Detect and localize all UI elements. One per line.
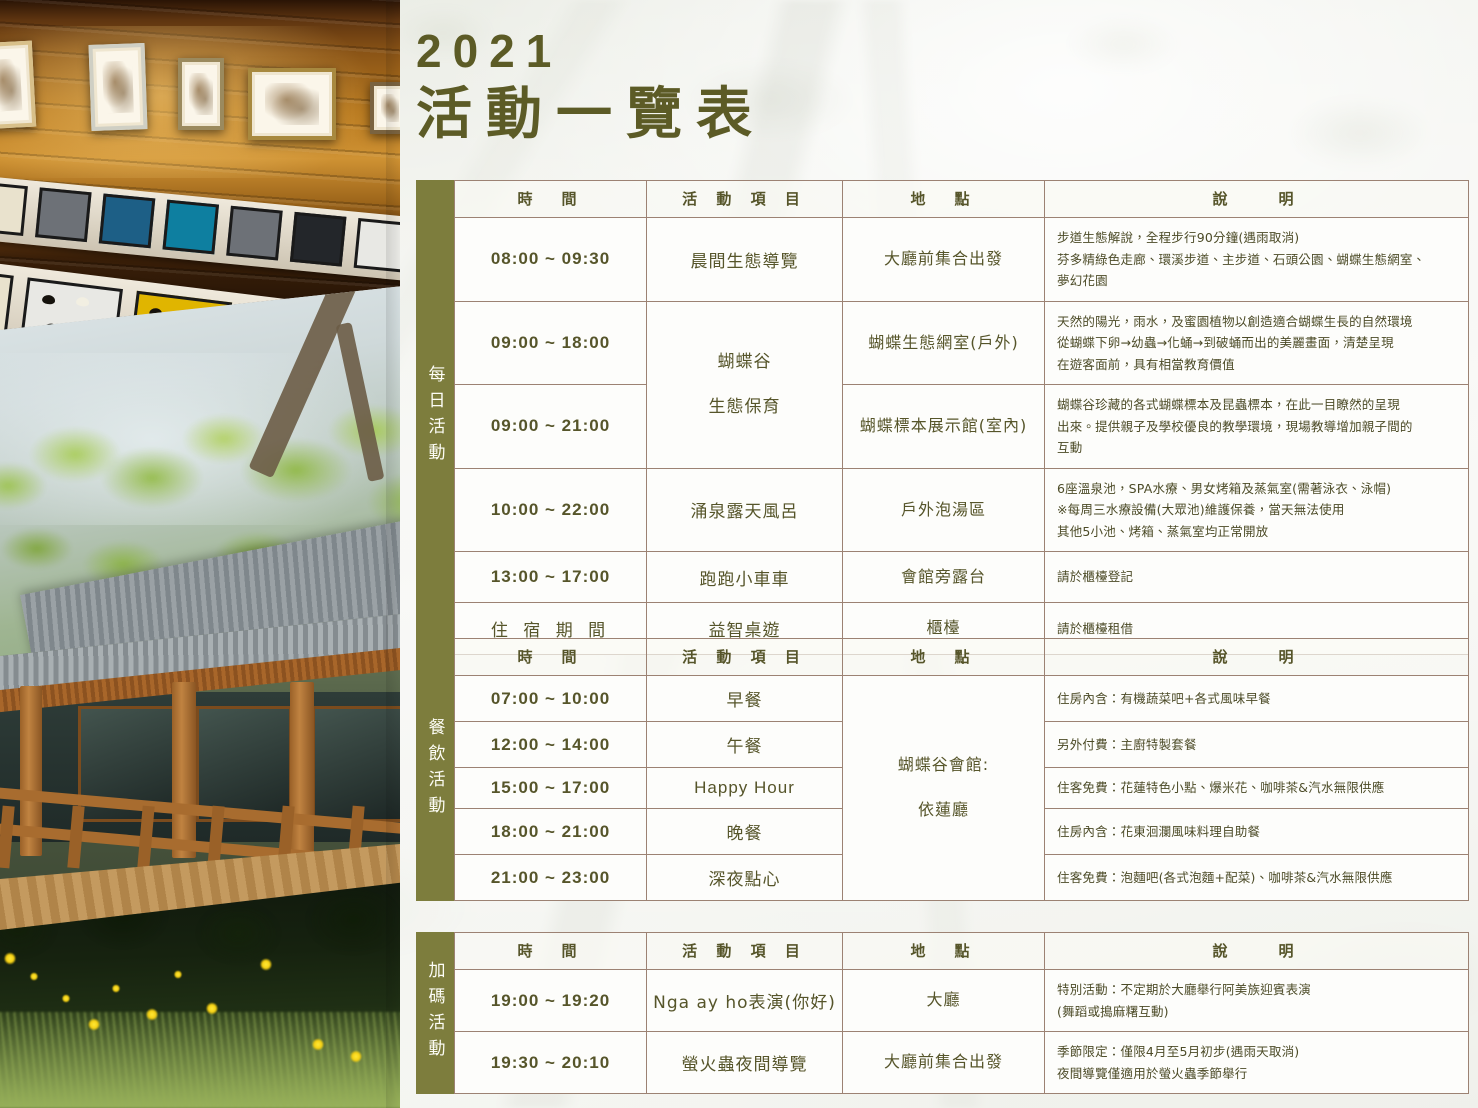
page-title: 2021 活動一覽表 (416, 28, 766, 147)
cell-item-merged: 蝴蝶谷 生態保育 (647, 301, 843, 468)
cell-desc: 6座溫泉池，SPA水療、男女烤箱及蒸氣室(需著泳衣、泳帽) ※每周三水療設備(大… (1045, 468, 1469, 552)
desc-line: 互動 (1057, 437, 1456, 459)
column-header-time: 時 間 (455, 639, 647, 676)
schedule-table-daily: 時 間 活 動 項 目 地 點 說 明 08:00 ~ 09:30 晨間生態導覽… (454, 180, 1469, 655)
desc-line: 在遊客面前，具有相當教育價值 (1057, 354, 1456, 376)
desc-line: 6座溫泉池，SPA水療、男女烤箱及蒸氣室(需著泳衣、泳帽) (1057, 478, 1456, 500)
desc-line: 特別活動：不定期於大廳舉行阿美族迎賓表演 (1057, 979, 1456, 1001)
desc-line: (舞蹈或搗麻糬互動) (1057, 1001, 1456, 1023)
table-header-row: 時 間 活 動 項 目 地 點 說 明 (455, 639, 1469, 676)
cell-place: 戶外泡湯區 (843, 468, 1045, 552)
cell-place: 大廳 (843, 970, 1045, 1032)
photo-butterfly-specimen-museum (0, 0, 400, 330)
firefly-glow (30, 972, 38, 981)
side-label-daily: 每日活動 (416, 180, 454, 655)
collage-edge-shadow (386, 0, 400, 1108)
table-row: 09:00 ~ 18:00 蝴蝶谷 生態保育 蝴蝶生態網室(戶外) 天然的陽光，… (455, 301, 1469, 385)
cell-desc: 住客免費：泡麵吧(各式泡麵+配菜)、咖啡茶&汽水無限供應 (1045, 855, 1469, 901)
side-label-bonus: 加碼活動 (416, 932, 454, 1094)
cell-time: 21:00 ~ 23:00 (455, 855, 647, 901)
cell-place: 會館旁露台 (843, 552, 1045, 603)
column-header-place: 地 點 (843, 933, 1045, 970)
cell-desc: 季節限定：僅限4月至5月初步(遇雨天取消) 夜間導覽僅適用於螢火蟲季節舉行 (1045, 1032, 1469, 1094)
desc-line: 住房內含：有機蔬菜吧+各式風味早餐 (1057, 688, 1456, 710)
desc-line: 出來。提供親子及學校優良的教學環境，現場教導增加親子間的 (1057, 416, 1456, 438)
desc-line: 住客免費：泡麵吧(各式泡麵+配菜)、咖啡茶&汽水無限供應 (1057, 867, 1456, 889)
side-label-dining: 餐飲活動 (416, 638, 454, 901)
cell-item: 跑跑小車車 (647, 552, 843, 603)
title-main: 活動一覽表 (416, 84, 766, 147)
cell-place: 蝴蝶標本展示館(室內) (843, 385, 1045, 469)
cell-desc: 另外付費：主廚特製套餐 (1045, 722, 1469, 768)
desc-line: 住客免費：花蓮特色小點、爆米花、咖啡茶&汽水無限供應 (1057, 777, 1456, 799)
desc-line: 夜間導覽僅適用於螢火蟲季節舉行 (1057, 1063, 1456, 1085)
desc-line: 住房內含：花東洄瀾風味料理自助餐 (1057, 821, 1456, 843)
content-panel: 2021 活動一覽表 每日活動 時 間 活 動 項 目 地 點 說 明 08:0… (400, 0, 1478, 1108)
schedule-table-bonus: 時 間 活 動 項 目 地 點 說 明 19:00 ~ 19:20 Nga ay… (454, 932, 1469, 1094)
firefly-glow (350, 1050, 362, 1063)
wall-picture-frame (89, 43, 148, 131)
schedule-block-daily: 每日活動 時 間 活 動 項 目 地 點 說 明 08:00 ~ 09:30 晨… (416, 180, 1468, 655)
cell-item: 晨間生態導覽 (647, 218, 843, 302)
column-header-place: 地 點 (843, 639, 1045, 676)
firefly-glow (312, 1038, 324, 1051)
firefly-glow (174, 970, 182, 979)
cell-item: 晚餐 (647, 809, 843, 855)
cell-item: 螢火蟲夜間導覽 (647, 1032, 843, 1094)
cell-time: 15:00 ~ 17:00 (455, 768, 647, 809)
desc-line: 請於櫃檯登記 (1057, 566, 1456, 588)
column-header-desc: 說 明 (1045, 181, 1469, 218)
wooden-post (290, 682, 314, 858)
cell-time: 19:00 ~ 19:20 (455, 970, 647, 1032)
table-row: 08:00 ~ 09:30 晨間生態導覽 大廳前集合出發 步道生態解說，全程步行… (455, 218, 1469, 302)
cell-time: 07:00 ~ 10:00 (455, 676, 647, 722)
cell-place-merged: 蝴蝶谷會館: 依蓮廳 (843, 676, 1045, 901)
wall-picture-frame (0, 41, 36, 130)
desc-line: 蝴蝶谷珍藏的各式蝴蝶標本及昆蟲標本，在此一目瞭然的呈現 (1057, 394, 1456, 416)
table-row: 19:30 ~ 20:10 螢火蟲夜間導覽 大廳前集合出發 季節限定：僅限4月至… (455, 1032, 1469, 1094)
wall-picture-frame (178, 58, 224, 130)
cell-item: Nga ay ho表演(你好) (647, 970, 843, 1032)
column-header-item: 活 動 項 目 (647, 933, 843, 970)
desc-line: ※每周三水療設備(大眾池)維護保養，當天無法使用 (1057, 499, 1456, 521)
wooden-post (172, 682, 196, 858)
cell-item: 午餐 (647, 722, 843, 768)
firefly-glow (146, 1008, 158, 1021)
desc-line: 其他5小池、烤箱、蒸氣室均正常開放 (1057, 521, 1456, 543)
table-header-row: 時 間 活 動 項 目 地 點 說 明 (455, 933, 1469, 970)
schedule-table-dining: 時 間 活 動 項 目 地 點 說 明 07:00 ~ 10:00 早餐 蝴蝶谷… (454, 638, 1469, 901)
cell-time: 09:00 ~ 18:00 (455, 301, 647, 385)
firefly-glow (260, 958, 272, 971)
column-header-time: 時 間 (455, 933, 647, 970)
cell-time: 19:30 ~ 20:10 (455, 1032, 647, 1094)
table-row: 09:00 ~ 21:00 蝴蝶標本展示館(室內) 蝴蝶谷珍藏的各式蝴蝶標本及昆… (455, 385, 1469, 469)
cell-time: 18:00 ~ 21:00 (455, 809, 647, 855)
table-header-row: 時 間 活 動 項 目 地 點 說 明 (455, 181, 1469, 218)
cell-desc: 請於櫃檯登記 (1045, 552, 1469, 603)
cell-desc: 蝴蝶谷珍藏的各式蝴蝶標本及昆蟲標本，在此一目瞭然的呈現 出來。提供親子及學校優良… (1045, 385, 1469, 469)
table-row: 13:00 ~ 17:00 跑跑小車車 會館旁露台 請於櫃檯登記 (455, 552, 1469, 603)
firefly-glow (88, 1018, 100, 1031)
cell-item: 涌泉露天風呂 (647, 468, 843, 552)
photo-collage (0, 0, 400, 1108)
desc-line: 天然的陽光，雨水，及蜜園植物以創造適合蝴蝶生長的自然環境 (1057, 311, 1456, 333)
column-header-desc: 說 明 (1045, 933, 1469, 970)
cell-time: 09:00 ~ 21:00 (455, 385, 647, 469)
column-header-place: 地 點 (843, 181, 1045, 218)
column-header-desc: 說 明 (1045, 639, 1469, 676)
schedule-block-bonus: 加碼活動 時 間 活 動 項 目 地 點 說 明 19:00 ~ 19:20 N… (416, 932, 1468, 1094)
title-year: 2021 (416, 28, 766, 74)
column-header-item: 活 動 項 目 (647, 181, 843, 218)
cell-item: Happy Hour (647, 768, 843, 809)
cell-desc: 住客免費：花蓮特色小點、爆米花、咖啡茶&汽水無限供應 (1045, 768, 1469, 809)
desc-line: 請於櫃檯租借 (1057, 618, 1456, 640)
firefly-glow (206, 1002, 218, 1015)
cell-desc: 天然的陽光，雨水，及蜜園植物以創造適合蝴蝶生長的自然環境 從蝴蝶下卵→幼蟲→化蛹… (1045, 301, 1469, 385)
desc-line: 芬多精綠色走廊、環溪步道、主步道、石頭公園、蝴蝶生態網室、 (1057, 249, 1456, 271)
firefly-glow (112, 984, 120, 993)
column-header-item: 活 動 項 目 (647, 639, 843, 676)
cell-place: 蝴蝶生態網室(戶外) (843, 301, 1045, 385)
tall-grass (0, 1012, 400, 1108)
cell-item: 深夜點心 (647, 855, 843, 901)
cell-desc: 步道生態解說，全程步行90分鐘(遇雨取消) 芬多精綠色走廊、環溪步道、主步道、石… (1045, 218, 1469, 302)
cell-time: 08:00 ~ 09:30 (455, 218, 647, 302)
photo-forest-canopy-and-roof (0, 282, 400, 674)
schedule-block-dining: 餐飲活動 時 間 活 動 項 目 地 點 說 明 07:00 ~ 10:00 早… (416, 638, 1468, 901)
cell-time: 13:00 ~ 17:00 (455, 552, 647, 603)
desc-line: 季節限定：僅限4月至5月初步(遇雨天取消) (1057, 1041, 1456, 1063)
cell-desc: 住房內含：有機蔬菜吧+各式風味早餐 (1045, 676, 1469, 722)
column-header-time: 時 間 (455, 181, 647, 218)
cell-item: 早餐 (647, 676, 843, 722)
table-row: 07:00 ~ 10:00 早餐 蝴蝶谷會館: 依蓮廳 住房內含：有機蔬菜吧+各… (455, 676, 1469, 722)
pavilion-window (196, 706, 292, 822)
firefly-glow (62, 994, 70, 1003)
desc-line: 從蝴蝶下卵→幼蟲→化蛹→到破蛹而出的美麗畫面，清楚呈現 (1057, 332, 1456, 354)
cell-desc: 住房內含：花東洄瀾風味料理自助餐 (1045, 809, 1469, 855)
cell-time: 12:00 ~ 14:00 (455, 722, 647, 768)
desc-line: 另外付費：主廚特製套餐 (1057, 734, 1456, 756)
table-row: 19:00 ~ 19:20 Nga ay ho表演(你好) 大廳 特別活動：不定… (455, 970, 1469, 1032)
desc-line: 夢幻花園 (1057, 270, 1456, 292)
table-row: 10:00 ~ 22:00 涌泉露天風呂 戶外泡湯區 6座溫泉池，SPA水療、男… (455, 468, 1469, 552)
cell-desc: 特別活動：不定期於大廳舉行阿美族迎賓表演 (舞蹈或搗麻糬互動) (1045, 970, 1469, 1032)
wall-picture-frame (248, 68, 336, 140)
cell-place: 大廳前集合出發 (843, 1032, 1045, 1094)
desc-line: 步道生態解說，全程步行90分鐘(遇雨取消) (1057, 227, 1456, 249)
firefly-glow (4, 952, 16, 965)
cell-place: 大廳前集合出發 (843, 218, 1045, 302)
cell-time: 10:00 ~ 22:00 (455, 468, 647, 552)
